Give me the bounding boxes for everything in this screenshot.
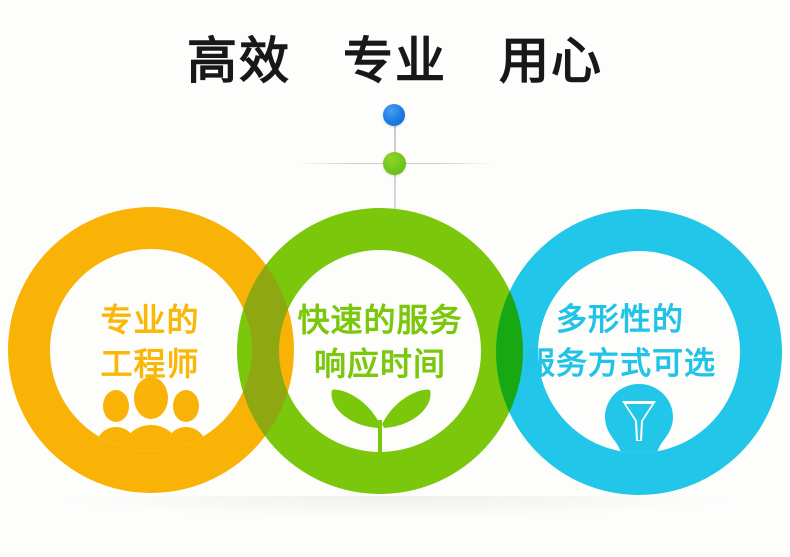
venn-overlap-right	[0, 0, 790, 557]
venn-diagram	[0, 0, 790, 557]
poster-canvas: 高效专业用心	[0, 0, 790, 557]
